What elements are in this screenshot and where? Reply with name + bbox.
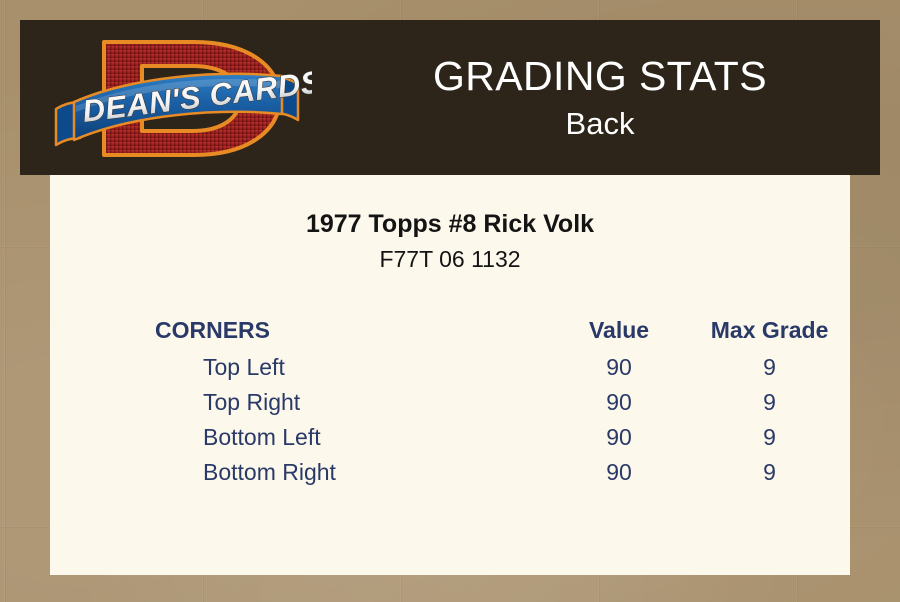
row-label-bottom-right: Bottom Right	[155, 455, 544, 490]
table-row: Bottom Right 90 9	[155, 455, 845, 490]
row-max-grade-top-right: 9	[694, 385, 845, 420]
content-panel: 1977 Topps #8 Rick Volk F77T 06 1132 COR…	[50, 175, 850, 575]
page-subtitle: Back	[566, 104, 635, 144]
column-header-value: Value	[544, 310, 694, 350]
row-label-bottom-left: Bottom Left	[155, 420, 544, 455]
row-value-top-right: 90	[544, 385, 694, 420]
column-header-max-grade: Max Grade	[694, 310, 845, 350]
grading-stats-table: CORNERS Value Max Grade Top Left 90 9 To…	[155, 310, 845, 490]
row-value-bottom-left: 90	[544, 420, 694, 455]
header-bar: DEAN'S CARDS GRADING STATS Back	[20, 20, 880, 175]
table-header: CORNERS Value Max Grade	[155, 310, 845, 350]
row-value-top-left: 90	[544, 350, 694, 385]
row-max-grade-bottom-left: 9	[694, 420, 845, 455]
table-row: Bottom Left 90 9	[155, 420, 845, 455]
deans-cards-logo: DEAN'S CARDS	[42, 26, 312, 171]
row-value-bottom-right: 90	[544, 455, 694, 490]
table-header-row: CORNERS Value Max Grade	[155, 310, 845, 350]
row-label-top-left: Top Left	[155, 350, 544, 385]
header-titles: GRADING STATS Back	[320, 20, 880, 175]
row-max-grade-bottom-right: 9	[694, 455, 845, 490]
page-title: GRADING STATS	[433, 52, 767, 100]
row-max-grade-top-left: 9	[694, 350, 845, 385]
table-row: Top Left 90 9	[155, 350, 845, 385]
table-row: Top Right 90 9	[155, 385, 845, 420]
table-body: Top Left 90 9 Top Right 90 9 Bottom Left…	[155, 350, 845, 490]
row-label-top-right: Top Right	[155, 385, 544, 420]
card-title: 1977 Topps #8 Rick Volk	[50, 175, 850, 239]
grading-stats-page: DEAN'S CARDS GRADING STATS Back 1977 Top…	[0, 0, 900, 602]
column-header-corners: CORNERS	[155, 310, 544, 350]
card-identifier: F77T 06 1132	[50, 239, 850, 273]
